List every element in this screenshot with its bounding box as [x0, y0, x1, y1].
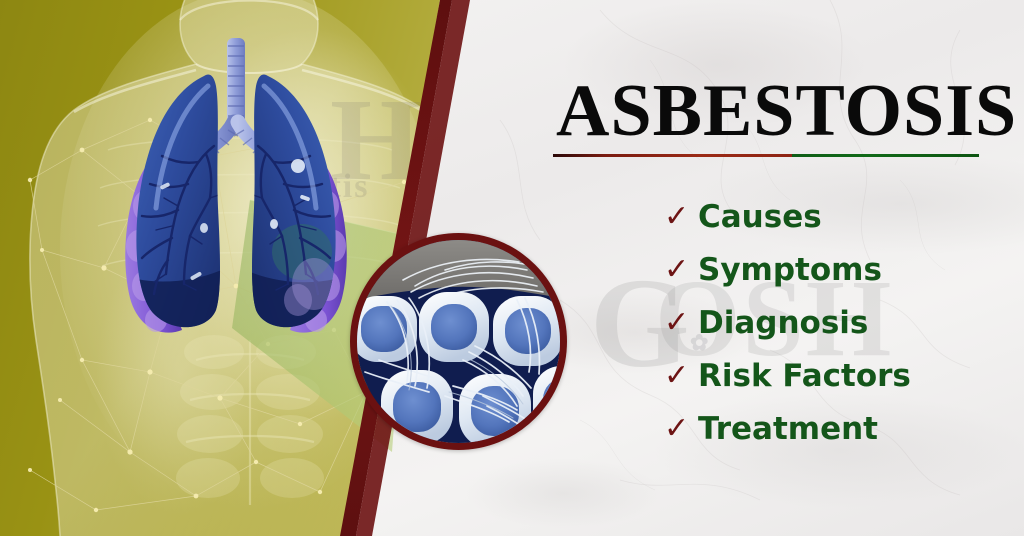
list-item-label: Risk Factors	[698, 358, 911, 394]
divider-left-segment	[553, 154, 792, 157]
list-item-label: Symptoms	[698, 252, 882, 288]
check-icon: ✓	[664, 308, 698, 338]
alveoli-magnified-inset	[350, 233, 567, 450]
list-item[interactable]: ✓ Symptoms	[664, 243, 911, 296]
alveoli-with-asbestos-fibers	[357, 240, 560, 443]
list-item-label: Diagnosis	[698, 305, 868, 341]
asbestosis-infographic-poster: G OSH ✿	[0, 0, 1024, 536]
check-icon: ✓	[664, 414, 698, 444]
page-title: ASBESTOSIS	[556, 74, 1017, 148]
list-item-label: Causes	[698, 199, 822, 235]
topic-checklist: ✓ Causes ✓ Symptoms ✓ Diagnosis ✓ Risk F…	[664, 190, 911, 455]
check-icon: ✓	[664, 255, 698, 285]
check-icon: ✓	[664, 361, 698, 391]
list-item[interactable]: ✓ Treatment	[664, 402, 911, 455]
divider-right-segment	[792, 154, 979, 157]
list-item-label: Treatment	[698, 411, 878, 447]
check-icon: ✓	[664, 202, 698, 232]
list-item[interactable]: ✓ Causes	[664, 190, 911, 243]
title-divider	[553, 154, 979, 157]
lungs-anatomy-illustration	[86, 38, 386, 338]
list-item[interactable]: ✓ Diagnosis	[664, 296, 911, 349]
alveolus	[493, 296, 560, 366]
list-item[interactable]: ✓ Risk Factors	[664, 349, 911, 402]
